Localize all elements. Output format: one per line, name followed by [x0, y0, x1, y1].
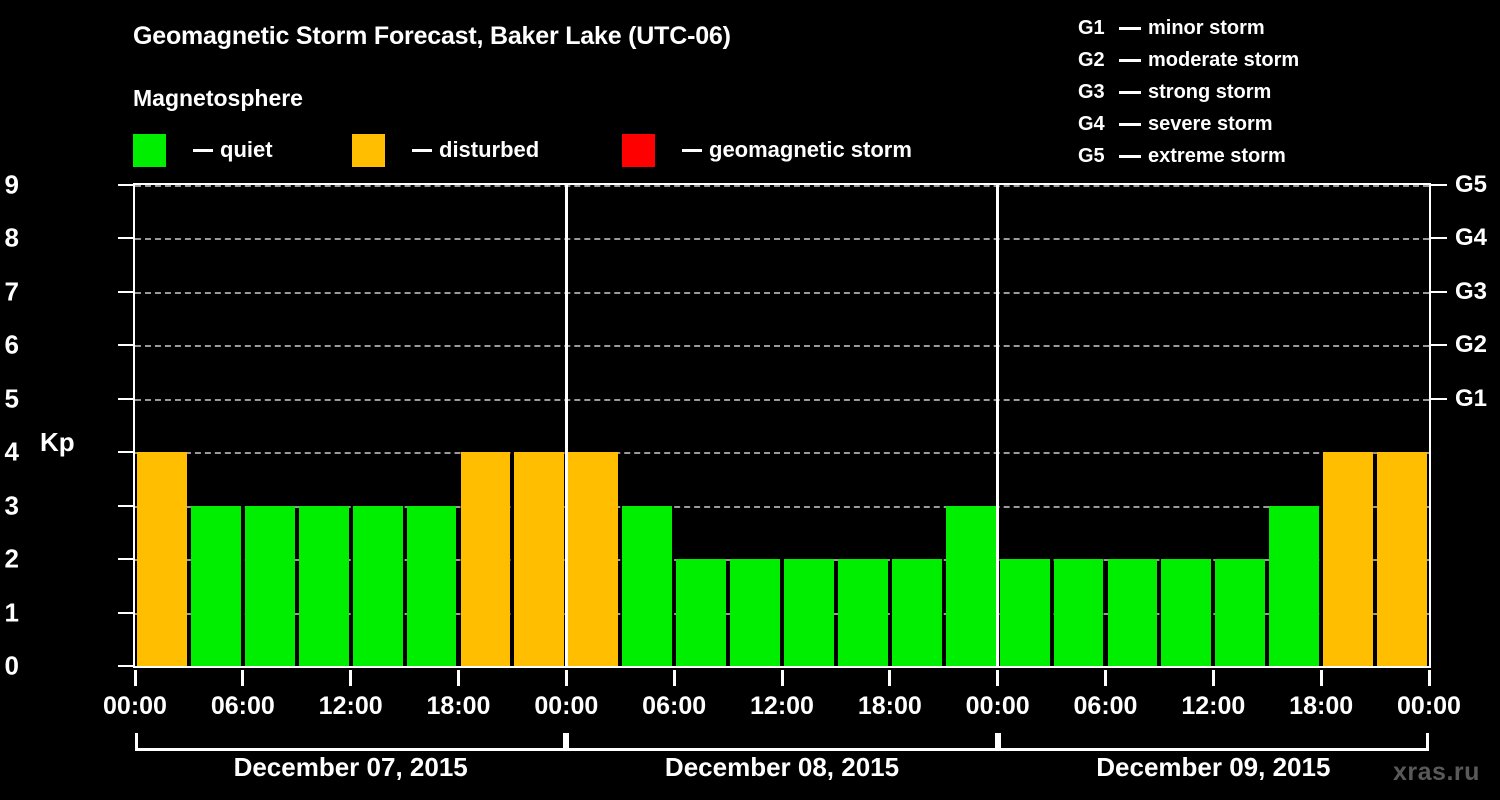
x-tick-label: 18:00	[427, 692, 491, 721]
day-label: December 09, 2015	[1096, 752, 1330, 783]
bar	[461, 452, 511, 666]
g-tick-mark	[1431, 398, 1447, 400]
bar	[946, 506, 996, 666]
g-legend-code: G1	[1078, 12, 1112, 44]
y-axis-title: Kp	[40, 427, 75, 458]
g-tick-label: G5	[1455, 171, 1487, 199]
g-scale-legend: G1minor stormG2moderate stormG3strong st…	[1078, 12, 1299, 172]
bar	[1054, 559, 1104, 666]
x-tick-mark	[888, 670, 891, 686]
x-tick-label: 00:00	[1397, 692, 1461, 721]
y-tick-mark	[118, 665, 133, 667]
day-bracket	[135, 733, 566, 751]
g-legend-g1: G1minor storm	[1078, 12, 1299, 44]
y-tick-label: 5	[0, 383, 19, 414]
x-tick-label: 12:00	[1181, 692, 1245, 721]
y-tick-label: 6	[0, 330, 19, 361]
bar	[838, 559, 888, 666]
bar	[245, 506, 295, 666]
g-legend-g4: G4severe storm	[1078, 108, 1299, 140]
page-title: Geomagnetic Storm Forecast, Baker Lake (…	[133, 22, 731, 51]
g-legend-dash-icon	[1119, 59, 1141, 62]
x-tick-label: 06:00	[1074, 692, 1138, 721]
y-tick-mark	[118, 184, 133, 186]
x-tick-label: 18:00	[1289, 692, 1353, 721]
legend-label: disturbed	[439, 137, 539, 163]
g-legend-code: G3	[1078, 76, 1112, 108]
y-tick-mark	[118, 451, 133, 453]
x-tick-mark	[565, 670, 568, 686]
y-tick-label: 0	[0, 651, 19, 682]
bar	[676, 559, 726, 666]
legend-item-quiet: quiet	[133, 133, 273, 167]
g-tick-mark	[1431, 344, 1447, 346]
y-tick-mark	[118, 237, 133, 239]
g-tick-label: G2	[1455, 331, 1487, 359]
g-legend-desc: extreme storm	[1148, 140, 1286, 172]
plot-inner	[135, 185, 1429, 666]
orange-swatch-icon	[352, 134, 385, 167]
chart-root: Geomagnetic Storm Forecast, Baker Lake (…	[0, 0, 1500, 800]
bar	[892, 559, 942, 666]
bar	[514, 452, 564, 666]
bar	[353, 506, 403, 666]
day-bracket	[998, 733, 1429, 751]
y-tick-label: 1	[0, 597, 19, 628]
y-tick-mark	[118, 558, 133, 560]
green-swatch-icon	[133, 134, 166, 167]
bar	[1215, 559, 1265, 666]
g-legend-dash-icon	[1119, 91, 1141, 94]
g-tick-label: G1	[1455, 385, 1487, 413]
y-tick-label: 2	[0, 544, 19, 575]
y-tick-label: 3	[0, 490, 19, 521]
y-tick-label: 4	[0, 437, 19, 468]
bar	[1377, 452, 1427, 666]
g-legend-dash-icon	[1119, 123, 1141, 126]
x-tick-mark	[1104, 670, 1107, 686]
day-bracket	[566, 733, 997, 751]
x-tick-label: 00:00	[534, 692, 598, 721]
x-tick-mark	[1212, 670, 1215, 686]
x-tick-mark	[1320, 670, 1323, 686]
legend-label: quiet	[220, 137, 273, 163]
x-tick-label: 00:00	[103, 692, 167, 721]
x-tick-mark	[457, 670, 460, 686]
legend-dash-icon	[412, 149, 432, 152]
legend-dash-icon	[193, 149, 213, 152]
g-tick-mark	[1431, 237, 1447, 239]
red-swatch-icon	[622, 134, 655, 167]
y-tick-mark	[118, 344, 133, 346]
x-tick-label: 12:00	[319, 692, 383, 721]
bar	[622, 506, 672, 666]
y-tick-label: 7	[0, 276, 19, 307]
y-tick-mark	[118, 291, 133, 293]
y-tick-mark	[118, 612, 133, 614]
x-tick-mark	[673, 670, 676, 686]
y-tick-label: 9	[0, 170, 19, 201]
g-legend-code: G4	[1078, 108, 1112, 140]
x-tick-mark	[134, 670, 137, 686]
g-legend-dash-icon	[1119, 155, 1141, 158]
day-label: December 08, 2015	[665, 752, 899, 783]
plot-area	[133, 183, 1431, 668]
x-tick-mark	[1428, 670, 1431, 686]
x-tick-mark	[349, 670, 352, 686]
y-tick-mark	[118, 505, 133, 507]
g-legend-code: G5	[1078, 140, 1112, 172]
legend-item-geomagnetic-storm: geomagnetic storm	[622, 133, 912, 167]
bar	[1161, 559, 1211, 666]
g-legend-g5: G5extreme storm	[1078, 140, 1299, 172]
legend-item-disturbed: disturbed	[352, 133, 539, 167]
g-legend-g2: G2moderate storm	[1078, 44, 1299, 76]
bar	[191, 506, 241, 666]
legend-dash-icon	[682, 149, 702, 152]
x-tick-label: 18:00	[858, 692, 922, 721]
bar	[1000, 559, 1050, 666]
bar	[299, 506, 349, 666]
g-legend-code: G2	[1078, 44, 1112, 76]
x-tick-mark	[781, 670, 784, 686]
g-tick-label: G4	[1455, 224, 1487, 252]
bar	[568, 452, 618, 666]
g-legend-desc: severe storm	[1148, 108, 1273, 140]
x-tick-label: 12:00	[750, 692, 814, 721]
bar	[407, 506, 457, 666]
x-tick-mark	[996, 670, 999, 686]
x-tick-label: 06:00	[211, 692, 275, 721]
watermark: xras.ru	[1393, 758, 1480, 787]
bar	[730, 559, 780, 666]
g-legend-dash-icon	[1119, 27, 1141, 30]
y-tick-label: 8	[0, 223, 19, 254]
magnetosphere-label: Magnetosphere	[133, 85, 303, 112]
x-tick-mark	[241, 670, 244, 686]
g-legend-desc: strong storm	[1148, 76, 1271, 108]
bar	[1108, 559, 1158, 666]
bar	[784, 559, 834, 666]
bars-layer	[135, 185, 1429, 666]
bar	[1269, 506, 1319, 666]
bar	[1323, 452, 1373, 666]
y-tick-mark	[118, 398, 133, 400]
g-legend-g3: G3strong storm	[1078, 76, 1299, 108]
g-tick-mark	[1431, 291, 1447, 293]
g-tick-label: G3	[1455, 278, 1487, 306]
g-legend-desc: minor storm	[1148, 12, 1265, 44]
bar	[137, 452, 187, 666]
g-legend-desc: moderate storm	[1148, 44, 1299, 76]
legend-label: geomagnetic storm	[709, 137, 912, 163]
day-separator	[565, 185, 568, 666]
day-label: December 07, 2015	[234, 752, 468, 783]
g-tick-mark	[1431, 184, 1447, 186]
x-tick-label: 06:00	[642, 692, 706, 721]
x-tick-label: 00:00	[966, 692, 1030, 721]
day-separator	[996, 185, 999, 666]
